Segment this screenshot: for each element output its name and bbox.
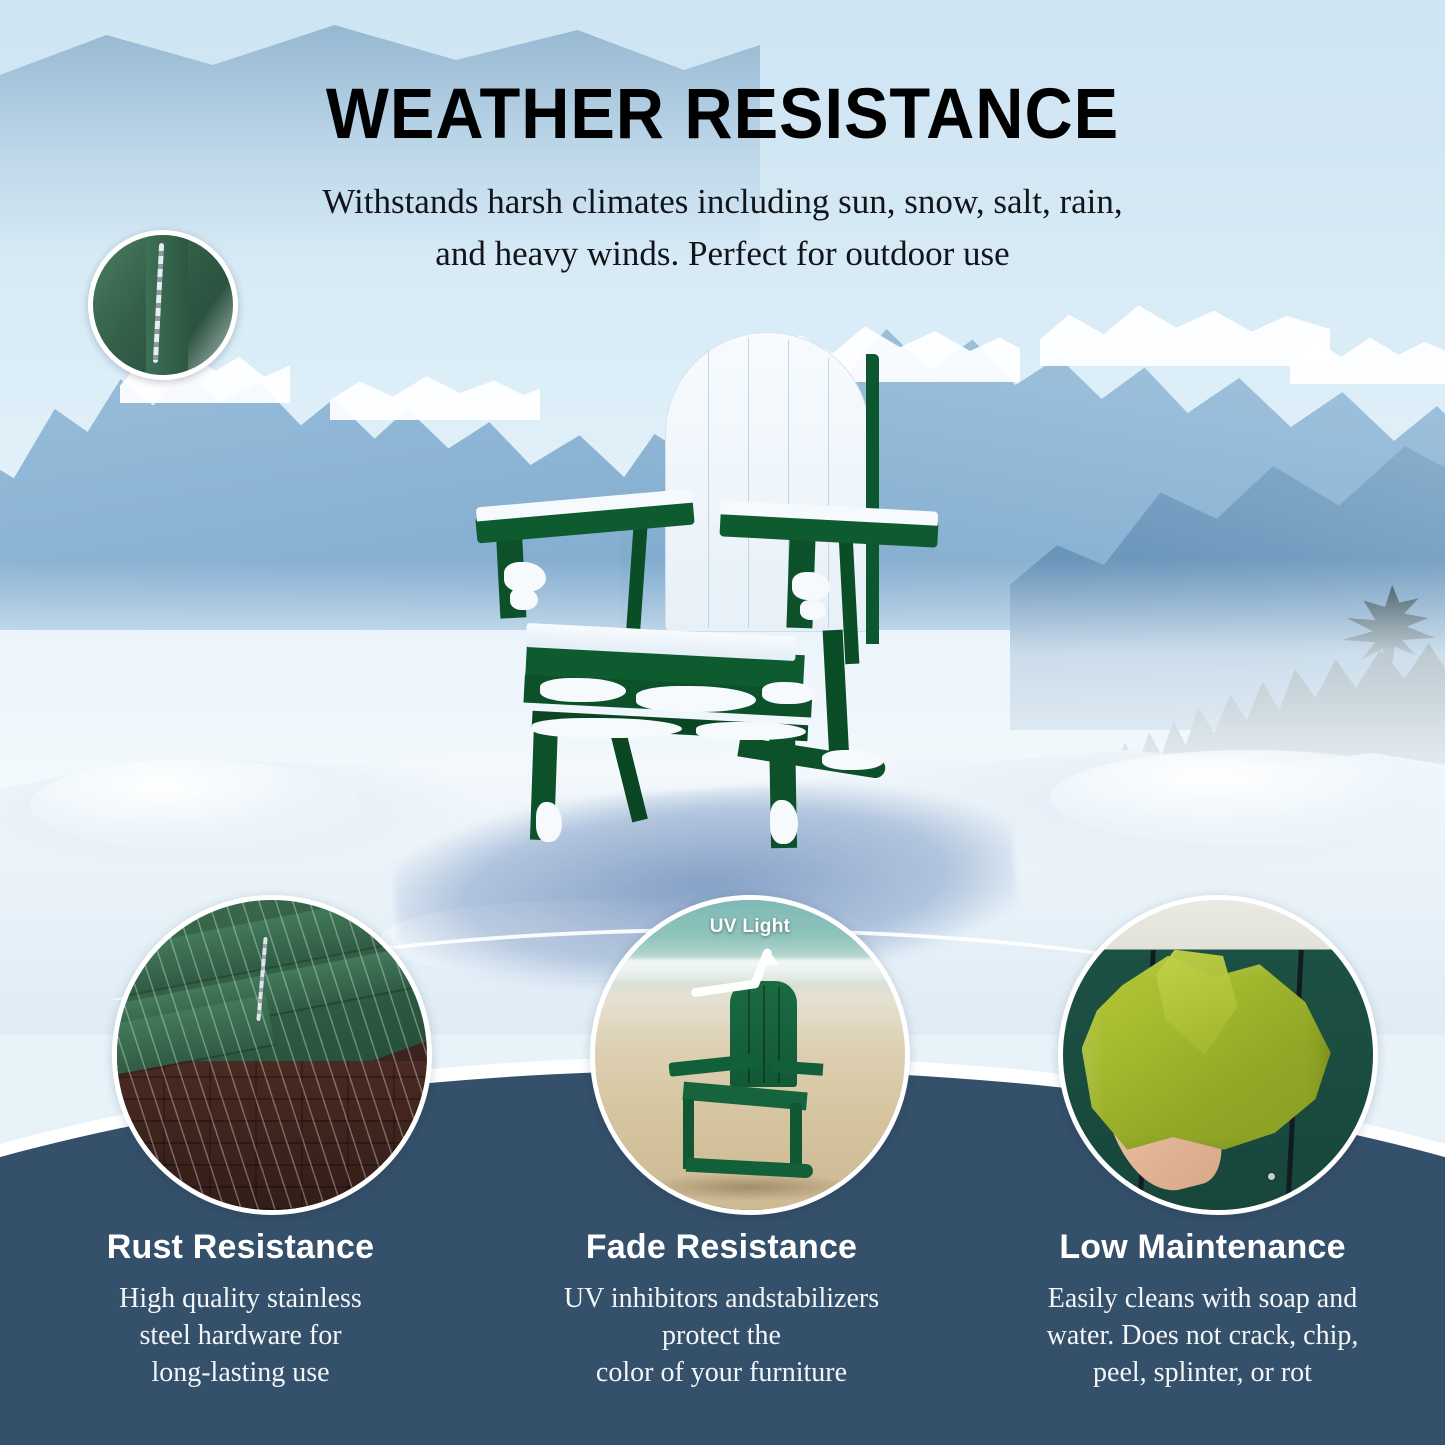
snow-patch [822,750,884,770]
chair-back-edge [866,354,879,644]
feature-image-fade-resistance[interactable]: UV Light [590,895,910,1215]
chair-leg-back [790,1103,802,1168]
page-title: WEATHER RESISTANCE [43,74,1401,155]
feature-description: UV inhibitors andstabilizers protect the… [505,1281,938,1392]
desc-line: water. Does not crack, chip, [986,1318,1419,1355]
desc-line: peel, splinter, or rot [986,1355,1419,1392]
feature-description: Easily cleans with soap and water. Does … [986,1281,1419,1392]
snow-patch [762,682,816,704]
snow-patch [770,800,798,844]
desc-line: long-lasting use [24,1355,457,1392]
feature-inset-chain-closeup[interactable] [88,230,238,380]
snow-patch [536,802,562,842]
hero-adirondack-chair [470,330,940,840]
desc-line: UV inhibitors andstabilizers [505,1281,938,1318]
snow-patch [696,722,806,740]
feature-image-rust-resistance[interactable] [112,895,432,1215]
uv-light-label: UV Light [595,916,905,938]
snow-drift [1050,750,1445,845]
snow-patch [636,686,756,712]
infographic-canvas: WEATHER RESISTANCE Withstands harsh clim… [0,0,1445,1445]
subtitle-line-1: Withstands harsh climates including sun,… [322,182,1122,221]
backrest-seam [748,338,749,628]
snow-patch [510,588,538,610]
feature-fade-resistance: Fade Resistance UV inhibitors andstabili… [481,1228,962,1392]
rain-overlay [112,895,432,1215]
beach-adirondack-chair [669,981,836,1186]
feature-image-low-maintenance[interactable] [1058,895,1378,1215]
desc-line: color of your furniture [505,1355,938,1392]
feature-low-maintenance: Low Maintenance Easily cleans with soap … [962,1228,1443,1392]
feature-list: Rust Resistance High quality stainless s… [0,1228,1445,1392]
desc-line: steel hardware for [24,1318,457,1355]
snowcap [1040,300,1330,366]
snow-drift [30,760,360,850]
feature-rust-resistance: Rust Resistance High quality stainless s… [0,1228,481,1392]
feature-description: High quality stainless steel hardware fo… [24,1281,457,1392]
desc-line: High quality stainless [24,1281,457,1318]
snow-patch [800,600,826,620]
feature-title: Low Maintenance [986,1228,1419,1267]
chair-backrest [665,332,870,632]
screw-head [1268,1173,1275,1180]
uv-arrow-icon [688,943,812,1005]
snow-patch [792,572,830,600]
feature-title: Fade Resistance [505,1228,938,1267]
backrest-seam [708,350,709,628]
desc-line: Easily cleans with soap and [986,1281,1419,1318]
snow-patch [532,718,682,738]
feature-title: Rust Resistance [24,1228,457,1267]
snow-patch [540,678,626,702]
chair-arm-brace-left [626,512,649,641]
desc-line: protect the [505,1318,938,1355]
